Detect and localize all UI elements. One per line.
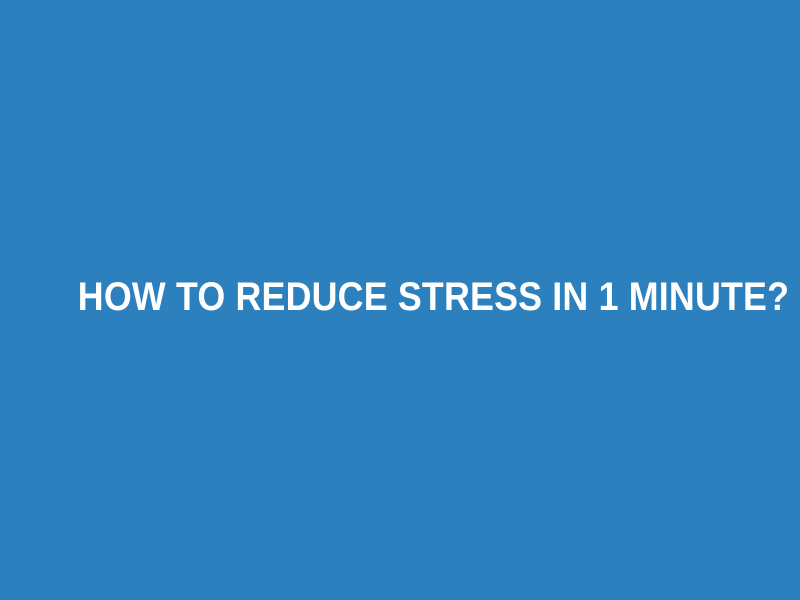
featured-image-card: HOW TO REDUCE STRESS IN 1 MINUTE?	[0, 0, 800, 600]
headline-container: HOW TO REDUCE STRESS IN 1 MINUTE?	[0, 274, 800, 321]
page-title: HOW TO REDUCE STRESS IN 1 MINUTE?	[78, 274, 722, 321]
